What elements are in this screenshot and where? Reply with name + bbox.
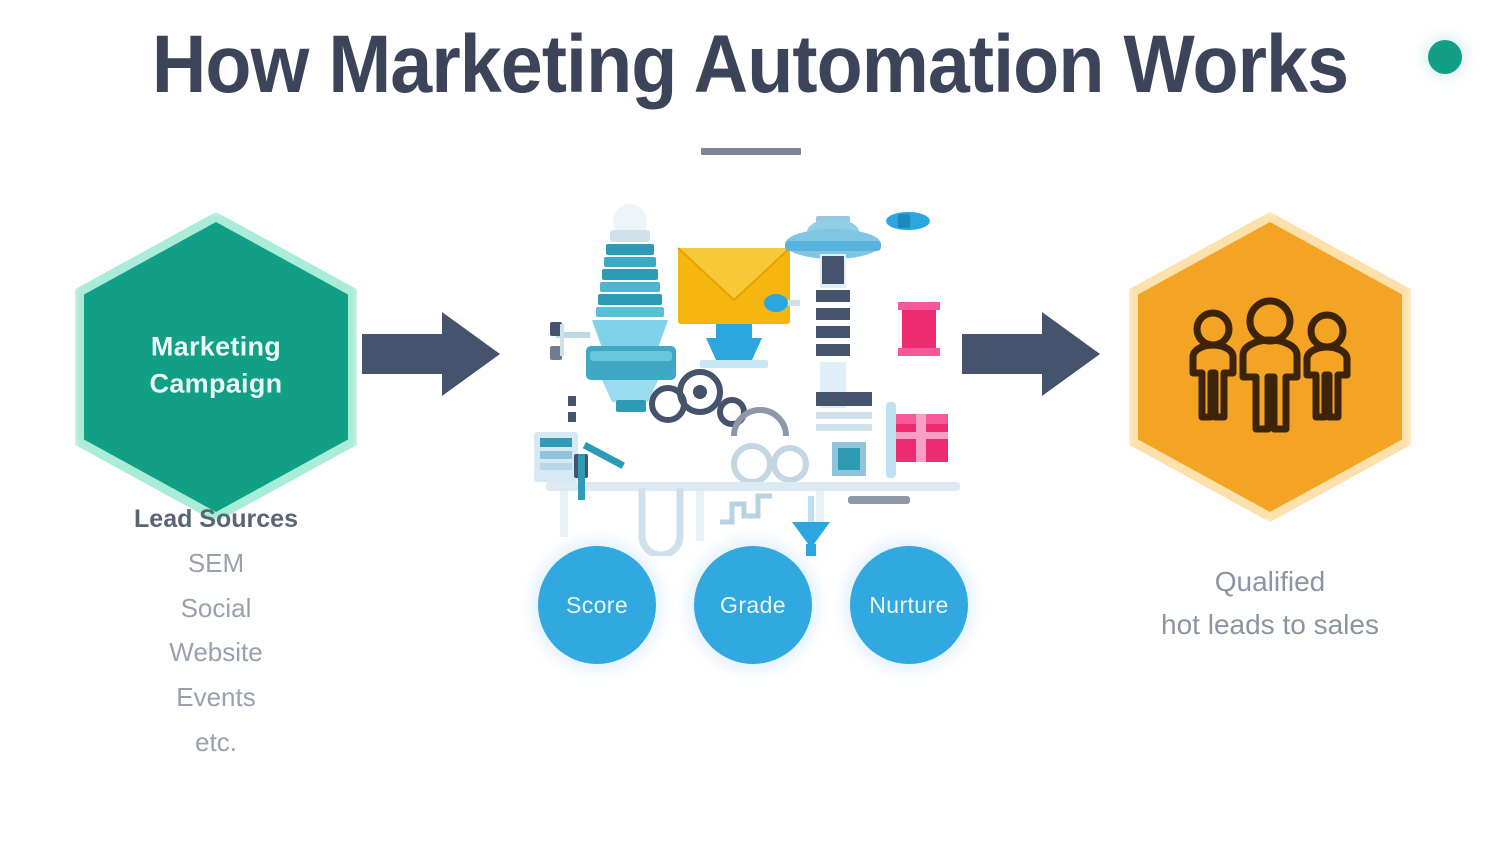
hexagon-label-line1: Marketing [84, 328, 348, 365]
spool-icon [898, 302, 940, 356]
marketing-automation-machine [520, 196, 990, 556]
stage-circle-score[interactable]: Score [538, 546, 656, 664]
qualified-leads-caption: Qualified hot leads to sales [1100, 560, 1440, 647]
chart-icon [720, 496, 772, 522]
arrow-campaign-to-engine-icon [362, 312, 504, 396]
arrow-head [442, 312, 500, 396]
marketing-campaign-hexagon[interactable]: Marketing Campaign [84, 222, 348, 512]
page-title: How Marketing Automation Works [60, 22, 1440, 108]
lead-sources-caption: Lead Sources SEM Social Website Events e… [80, 498, 352, 765]
three-people-icon [1175, 297, 1365, 437]
indicator-lights-icon [568, 396, 576, 422]
qualified-line1: Qualified [1100, 560, 1440, 603]
machine-illustration [520, 196, 990, 556]
slide-canvas: How Marketing Automation Works Marketing… [0, 0, 1500, 842]
gear-hub [693, 385, 707, 399]
arrow-shaft [362, 334, 448, 374]
stage-circle-row: Score Grade Nurture [538, 546, 968, 670]
lead-source-item: Events [80, 675, 352, 720]
pipe-loop [734, 446, 806, 482]
badge-dot-icon [1428, 40, 1462, 74]
qualified-line2: hot leads to sales [1100, 603, 1440, 646]
conveyor-deck [546, 482, 960, 491]
gift-box-icon [896, 414, 948, 462]
u-pipe [642, 488, 680, 555]
lead-source-item: etc. [80, 720, 352, 765]
arrow-head [1042, 312, 1100, 396]
qualified-leads-hexagon[interactable] [1138, 222, 1402, 512]
tower-icon [550, 204, 676, 412]
lead-source-item: SEM [80, 541, 352, 586]
lead-source-item: Website [80, 630, 352, 675]
title-divider [701, 148, 801, 155]
hexagon-label: Marketing Campaign [84, 328, 348, 403]
stage-circle-grade[interactable]: Grade [694, 546, 812, 664]
stage-circle-nurture[interactable]: Nurture [850, 546, 968, 664]
hexagon-label-line2: Campaign [84, 366, 348, 403]
lead-sources-heading: Lead Sources [80, 498, 352, 541]
lead-source-item: Social [80, 586, 352, 631]
